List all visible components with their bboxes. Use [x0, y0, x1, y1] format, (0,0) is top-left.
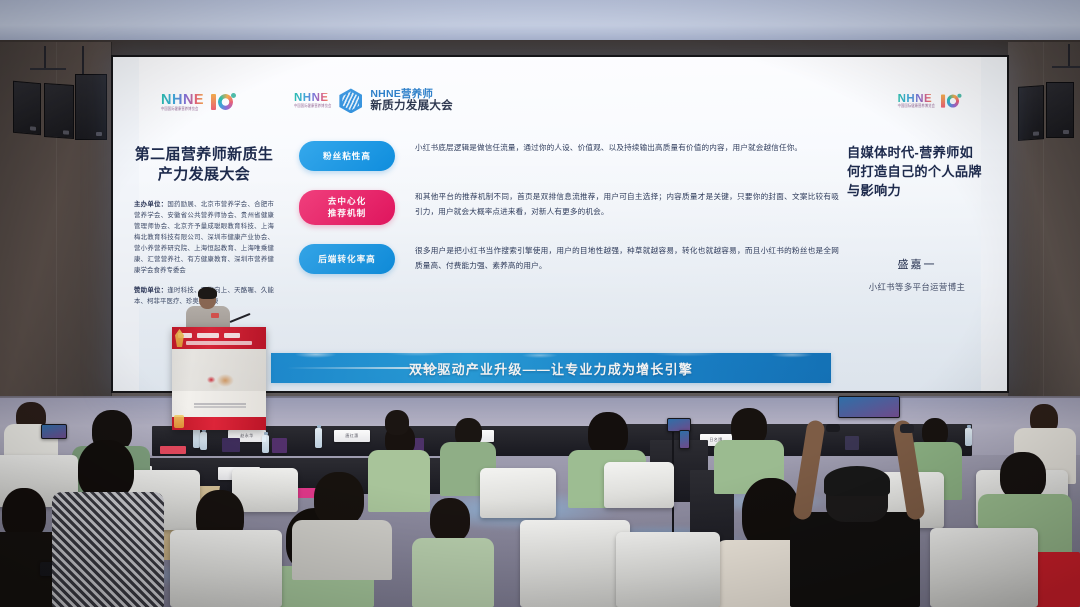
water-bottle	[965, 428, 972, 446]
organizers-text: 国药励展、北京市营养学会、合肥市营养学会、安徽省公共营养师协会、贵州省健康管理师…	[134, 201, 274, 274]
ceiling-speaker-icon	[44, 83, 74, 139]
conference-title-line-1: 第二届营养师新质生	[134, 145, 274, 165]
speaker-rig-rod	[1068, 44, 1070, 66]
organizers-block: 主办单位：国药励展、北京市营养学会、合肥市营养学会、安徽省公共营养师协会、贵州省…	[134, 199, 274, 276]
conference-photo-scene: NHNE 中国国际健康营养博览会 NHNE 中国国际健康营养博览会 NHNE营养…	[0, 0, 1080, 607]
attendee-torso-checkered	[52, 492, 164, 607]
attendee-torso	[292, 520, 392, 580]
lectern-caption	[194, 403, 246, 410]
attendee-head	[314, 472, 364, 526]
nhne-subtext: 中国国际健康营养博览会	[294, 105, 331, 109]
ceiling-speaker-icon	[1018, 85, 1044, 141]
header-line-1: NHNE营养师	[370, 88, 453, 100]
speaker-rig-rod	[82, 46, 84, 74]
point-pill-label: 粉丝粘性高	[299, 141, 395, 171]
point-body-text: 和其他平台的推荐机制不同，首页是双排信息流推荐，用户可自主选择；内容质量才是关键…	[415, 188, 839, 219]
attendee-head	[1000, 452, 1046, 500]
baseball-cap-icon	[824, 466, 890, 496]
point-row: 后端转化率高 很多用户是把小红书当作搜索引擎使用，用户的目地性越强，种草就越容易…	[299, 242, 839, 274]
speaker-rig-yoke	[1052, 66, 1080, 68]
point-body-text: 很多用户是把小红书当作搜索引擎使用，用户的目地性越强，种草就越容易，转化也就越容…	[415, 242, 839, 273]
chair	[604, 462, 674, 508]
chair	[480, 468, 556, 518]
conference-title-line-2: 产力发展大会	[134, 165, 274, 185]
lectern-emblem-icon	[174, 415, 184, 428]
lectern	[172, 311, 266, 430]
speaker-rig-rod	[44, 46, 46, 68]
talk-title-line-2: 何打造自己的个人品牌	[847, 162, 993, 181]
anniversary-10-icon	[941, 95, 961, 109]
anniversary-10-icon	[211, 94, 235, 111]
watch-icon	[900, 424, 914, 433]
attendee-torso	[790, 512, 920, 607]
slide-logo-top-right: NHNE 中国国际健康营养博览会	[898, 93, 965, 110]
microphone-icon	[230, 313, 251, 323]
phone[interactable]	[41, 424, 67, 439]
folder	[222, 438, 240, 452]
banner-text: 双轮驱动产业升级——让专业力成为增长引擎	[409, 359, 693, 378]
folder	[845, 436, 859, 450]
attendee-head	[385, 410, 409, 435]
presenter-badge	[211, 313, 219, 318]
phone-held-up[interactable]	[838, 396, 900, 418]
point-pill-label: 后端转化率高	[299, 244, 395, 274]
header-line-2: 新质力发展大会	[370, 100, 453, 114]
ceiling-speaker-icon	[13, 81, 41, 135]
chair	[930, 528, 1038, 607]
folder	[272, 438, 287, 453]
nhne-wordmark: NHNE	[161, 93, 204, 108]
speaker-role: 小红书等多平台运营博主	[841, 281, 993, 293]
slide-logo-top-left: NHNE 中国国际健康营养博览会	[161, 93, 235, 111]
point-row: 粉丝粘性高 小红书底层逻辑是做信任流量，通过你的人设、价值观、以及持续输出高质量…	[299, 139, 839, 171]
attendee-torso	[412, 538, 494, 607]
point-row: 去中心化 推荐机制 和其他平台的推荐机制不同，首页是双排信息流推荐，用户可自主选…	[299, 188, 839, 225]
nhne-subtext: 中国国际健康营养博览会	[161, 107, 204, 111]
talk-title-line-3: 与影响力	[847, 181, 993, 200]
speaker-rig-yoke	[30, 68, 66, 70]
attendee-torso	[368, 450, 430, 512]
nhne-subtext: 中国国际健康营养博览会	[898, 105, 935, 109]
phone[interactable]	[679, 430, 690, 449]
attendee-head	[430, 498, 470, 542]
talk-title-line-1: 自媒体时代-营养师如	[847, 143, 993, 162]
chair	[170, 530, 282, 607]
water-bottle	[315, 428, 322, 448]
water-bottle	[200, 432, 207, 450]
slide-point-rows: 粉丝粘性高 小红书底层逻辑是做信任流量，通过你的人设、价值观、以及持续输出高质量…	[299, 139, 839, 291]
hexagon-mark-icon	[339, 88, 362, 113]
slide-bottom-banner: 双轮驱动产业升级——让专业力成为增长引擎	[271, 353, 831, 383]
speaker-name: 盛嘉一	[841, 256, 993, 272]
document-red	[160, 446, 186, 454]
chair	[520, 520, 630, 607]
point-body-text: 小红书底层逻辑是做信任流量，通过你的人设、价值观、以及持续输出高质量有价值的内容…	[415, 139, 802, 155]
name-card: 唐红惠	[334, 430, 370, 442]
point-pill-label: 去中心化 推荐机制	[299, 190, 395, 225]
water-bottle	[262, 435, 269, 453]
chair	[616, 532, 720, 607]
ceiling-speaker-icon	[1046, 82, 1074, 138]
slide-left-column: 第二届营养师新质生 产力发展大会 主办单位：国药励展、北京市营养学会、合肥市营养…	[134, 145, 274, 307]
slide-header-lockup: NHNE 中国国际健康营养博览会 NHNE营养师 新质力发展大会	[294, 88, 453, 114]
wristband-icon	[826, 424, 840, 432]
lectern-graphic	[198, 367, 242, 399]
water-bottle	[193, 428, 200, 448]
slide-right-column: 自媒体时代-营养师如 何打造自己的个人品牌 与影响力 盛嘉一 小红书等多平台运营…	[841, 143, 993, 293]
attendee-head	[78, 440, 134, 500]
presenter	[186, 289, 230, 329]
ceiling-speaker-icon	[75, 74, 107, 140]
